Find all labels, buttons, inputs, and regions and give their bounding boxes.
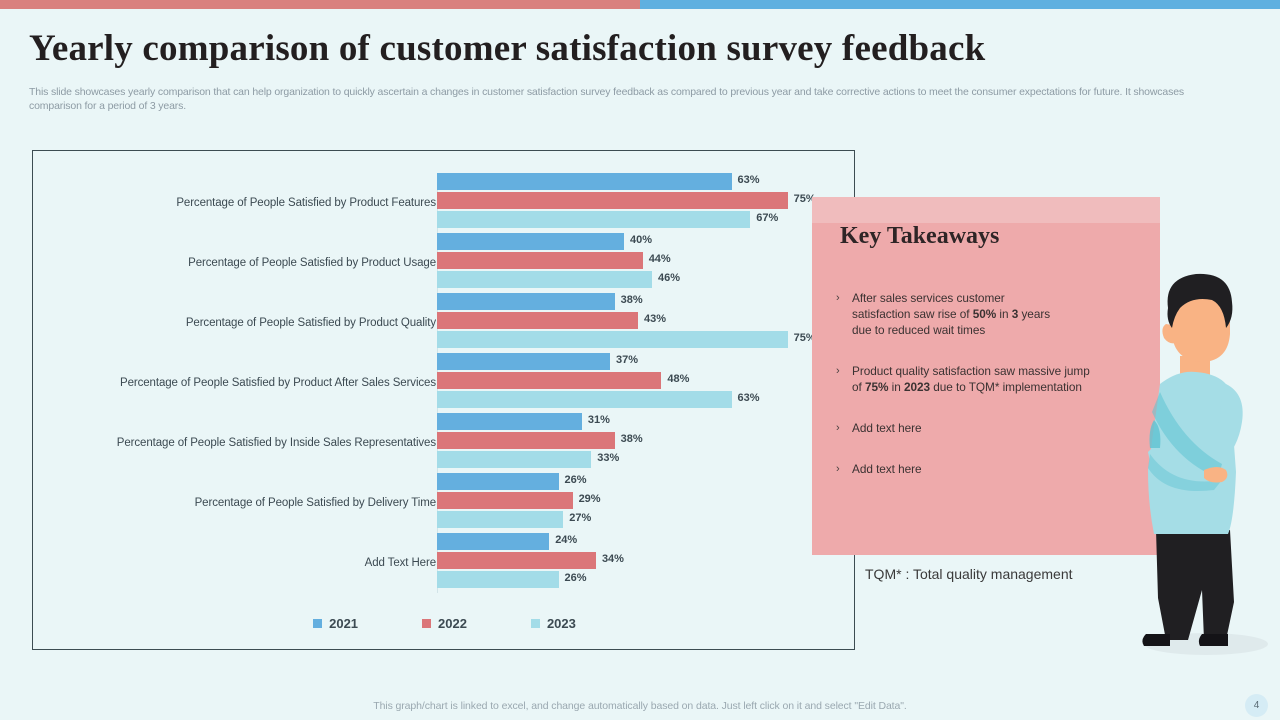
chart-bar-row[interactable]: 67% bbox=[437, 211, 856, 228]
chart-legend-item[interactable]: 2023 bbox=[531, 616, 576, 631]
chart-bar-value-label: 67% bbox=[756, 212, 778, 224]
chart-bar-group: 38%43%75% bbox=[437, 293, 856, 350]
thinking-person-illustration bbox=[1118, 272, 1280, 657]
chart-category-label: Percentage of People Satisfied by Produc… bbox=[186, 317, 436, 329]
chart-bar-value-label: 40% bbox=[630, 234, 652, 246]
chart-bar[interactable] bbox=[437, 353, 610, 370]
chart-category-label: Percentage of People Satisfied by Inside… bbox=[117, 437, 436, 449]
chart-bar[interactable] bbox=[437, 571, 559, 588]
chart-bar[interactable] bbox=[437, 511, 563, 528]
chart-bar[interactable] bbox=[437, 331, 788, 348]
accent-segment-left bbox=[0, 0, 640, 9]
chart-legend-label: 2023 bbox=[547, 616, 576, 631]
chart-bar-row[interactable]: 38% bbox=[437, 293, 856, 310]
chart-legend-label: 2021 bbox=[329, 616, 358, 631]
chart-bar-value-label: 26% bbox=[565, 572, 587, 584]
chart-container[interactable]: Percentage of People Satisfied by Produc… bbox=[32, 150, 855, 650]
chart-bar-group: 40%44%46% bbox=[437, 233, 856, 290]
chart-bar-value-label: 24% bbox=[555, 534, 577, 546]
chart-bar[interactable] bbox=[437, 293, 615, 310]
chart-bar[interactable] bbox=[437, 413, 582, 430]
chart-category-group: Percentage of People Satisfied by Produc… bbox=[33, 293, 856, 353]
chart-legend-label: 2022 bbox=[438, 616, 467, 631]
key-takeaway-text: After sales services customersatisfactio… bbox=[852, 290, 1050, 338]
chart-bar-row[interactable]: 26% bbox=[437, 571, 856, 588]
chart-legend-swatch bbox=[531, 619, 540, 628]
key-takeaway-item: ›Add text here bbox=[836, 461, 1146, 477]
chart-bar-value-label: 44% bbox=[649, 253, 671, 265]
key-takeaway-item: ›Add text here bbox=[836, 420, 1146, 436]
chart-bar-value-label: 31% bbox=[588, 414, 610, 426]
chart-bar[interactable] bbox=[437, 432, 615, 449]
chart-bar-value-label: 48% bbox=[667, 373, 689, 385]
chart-category-label: Percentage of People Satisfied by Produc… bbox=[120, 377, 436, 389]
chart-bar[interactable] bbox=[437, 391, 732, 408]
chart-bar[interactable] bbox=[437, 451, 591, 468]
chart-bar-value-label: 29% bbox=[579, 493, 601, 505]
chart-bar-row[interactable]: 26% bbox=[437, 473, 856, 490]
chart-category-group: Percentage of People Satisfied by Inside… bbox=[33, 413, 856, 473]
chart-bar[interactable] bbox=[437, 173, 732, 190]
chart-bar-value-label: 38% bbox=[621, 294, 643, 306]
chevron-right-icon: › bbox=[836, 420, 852, 436]
chart-bar-row[interactable]: 63% bbox=[437, 391, 856, 408]
chart-bar-row[interactable]: 75% bbox=[437, 331, 856, 348]
chevron-right-icon: › bbox=[836, 461, 852, 477]
chart-bar-value-label: 34% bbox=[602, 553, 624, 565]
page-number-badge: 4 bbox=[1245, 694, 1268, 717]
chart-bar-row[interactable]: 75% bbox=[437, 192, 856, 209]
chart-legend-swatch bbox=[313, 619, 322, 628]
chart-bar-value-label: 27% bbox=[569, 512, 591, 524]
chart-bar-value-label: 26% bbox=[565, 474, 587, 486]
chart-bar[interactable] bbox=[437, 552, 596, 569]
chart-bar-row[interactable]: 27% bbox=[437, 511, 856, 528]
chart-bar-row[interactable]: 33% bbox=[437, 451, 856, 468]
chart-bar-group: 26%29%27% bbox=[437, 473, 856, 530]
chart-bar-row[interactable]: 24% bbox=[437, 533, 856, 550]
key-takeaway-text: Product quality satisfaction saw massive… bbox=[852, 363, 1090, 395]
key-takeaway-text: Add text here bbox=[852, 420, 922, 436]
chart-bar-row[interactable]: 44% bbox=[437, 252, 856, 269]
chart-legend-swatch bbox=[422, 619, 431, 628]
key-takeaways-header-band bbox=[812, 197, 1160, 223]
chart-category-group: Add Text Here24%34%26% bbox=[33, 533, 856, 593]
chart-bar-group: 31%38%33% bbox=[437, 413, 856, 470]
chart-category-label: Percentage of People Satisfied by Delive… bbox=[195, 497, 436, 509]
chart-category-group: Percentage of People Satisfied by Delive… bbox=[33, 473, 856, 533]
chart-bar[interactable] bbox=[437, 192, 788, 209]
top-accent-bar bbox=[0, 0, 1280, 9]
accent-segment-right bbox=[640, 0, 1280, 9]
chart-bar-value-label: 33% bbox=[597, 452, 619, 464]
key-takeaway-text: Add text here bbox=[852, 461, 922, 477]
key-takeaways-list: ›After sales services customersatisfacti… bbox=[836, 290, 1146, 502]
key-takeaway-item: ›After sales services customersatisfacti… bbox=[836, 290, 1146, 338]
chart-bar-row[interactable]: 48% bbox=[437, 372, 856, 389]
chart-legend-item[interactable]: 2021 bbox=[313, 616, 358, 631]
chart-bar-row[interactable]: 29% bbox=[437, 492, 856, 509]
key-takeaway-item: ›Product quality satisfaction saw massiv… bbox=[836, 363, 1146, 395]
key-takeaways-panel: Key Takeaways ›After sales services cust… bbox=[812, 197, 1160, 555]
page-subtitle: This slide showcases yearly comparison t… bbox=[29, 85, 1201, 113]
chart-legend: 202120222023 bbox=[33, 616, 856, 631]
chart-bar[interactable] bbox=[437, 533, 549, 550]
chart-bar-group: 37%48%63% bbox=[437, 353, 856, 410]
chart-bar[interactable] bbox=[437, 271, 652, 288]
chart-bar-value-label: 43% bbox=[644, 313, 666, 325]
chart-category-group: Percentage of People Satisfied by Produc… bbox=[33, 353, 856, 413]
chart-bar-row[interactable]: 40% bbox=[437, 233, 856, 250]
chevron-right-icon: › bbox=[836, 363, 852, 379]
chart-bar-value-label: 38% bbox=[621, 433, 643, 445]
footer-disclaimer: This graph/chart is linked to excel, and… bbox=[0, 700, 1280, 712]
chart-bar[interactable] bbox=[437, 233, 624, 250]
chart-bar-row[interactable]: 31% bbox=[437, 413, 856, 430]
chart-bar-row[interactable]: 63% bbox=[437, 173, 856, 190]
tqm-footnote: TQM* : Total quality management bbox=[865, 566, 1073, 582]
chart-bar[interactable] bbox=[437, 252, 643, 269]
chart-category-group: Percentage of People Satisfied by Produc… bbox=[33, 233, 856, 293]
chart-bar[interactable] bbox=[437, 372, 661, 389]
chart-bar-group: 63%75%67% bbox=[437, 173, 856, 230]
chart-bar[interactable] bbox=[437, 211, 750, 228]
chart-legend-item[interactable]: 2022 bbox=[422, 616, 467, 631]
chart-bar-row[interactable]: 43% bbox=[437, 312, 856, 329]
chart-category-label: Percentage of People Satisfied by Produc… bbox=[176, 197, 436, 209]
chart-category-label: Add Text Here bbox=[365, 557, 436, 569]
page-title: Yearly comparison of customer satisfacti… bbox=[29, 27, 985, 70]
key-takeaways-title: Key Takeaways bbox=[840, 223, 999, 250]
chart-bar-row[interactable]: 37% bbox=[437, 353, 856, 370]
chart-bar-group: 24%34%26% bbox=[437, 533, 856, 590]
chart-bar[interactable] bbox=[437, 473, 559, 490]
chart-bar-row[interactable]: 38% bbox=[437, 432, 856, 449]
chart-category-group: Percentage of People Satisfied by Produc… bbox=[33, 173, 856, 233]
chart-bar-row[interactable]: 34% bbox=[437, 552, 856, 569]
chart-bar-value-label: 37% bbox=[616, 354, 638, 366]
chart-plot-area: Percentage of People Satisfied by Produc… bbox=[33, 151, 856, 651]
chart-bar-value-label: 46% bbox=[658, 272, 680, 284]
chart-bar-value-label: 63% bbox=[738, 174, 760, 186]
chart-bar[interactable] bbox=[437, 312, 638, 329]
chart-bar-value-label: 63% bbox=[738, 392, 760, 404]
chart-bar[interactable] bbox=[437, 492, 573, 509]
chart-category-label: Percentage of People Satisfied by Produc… bbox=[188, 257, 436, 269]
chart-bar-row[interactable]: 46% bbox=[437, 271, 856, 288]
chevron-right-icon: › bbox=[836, 290, 852, 306]
